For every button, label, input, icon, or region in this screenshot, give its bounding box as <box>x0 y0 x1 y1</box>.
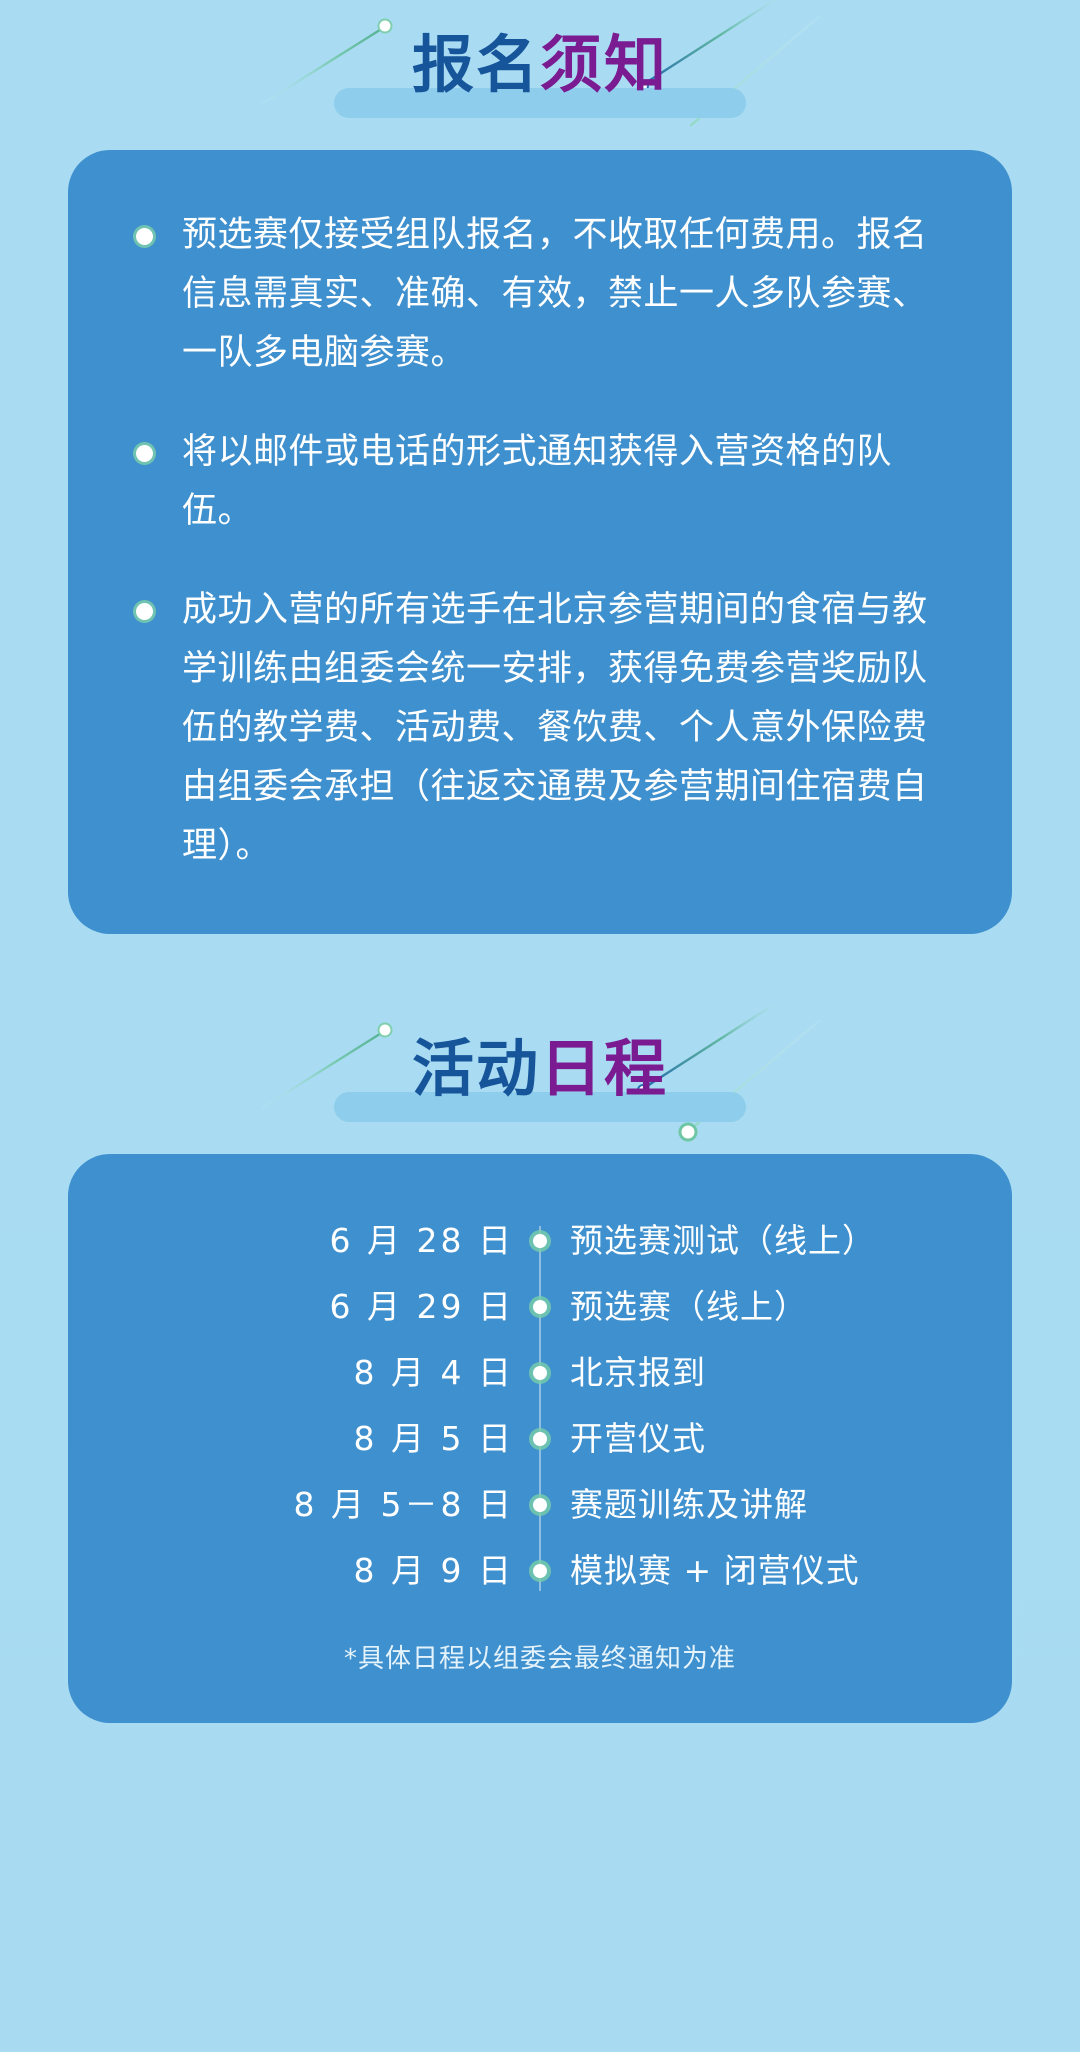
heading-blue-part: 活动 <box>412 1032 540 1105</box>
section-gap <box>0 934 1080 1004</box>
section-heading-schedule: 活动日程 <box>0 1004 1080 1154</box>
poster-page: 报名须知 预选赛仅接受组队报名，不收取任何费用。报名信息需真实、准确、有效，禁止… <box>0 0 1080 2052</box>
schedule-date: 8 月 9 日 <box>108 1551 540 1591</box>
timeline-node <box>529 1362 551 1384</box>
notice-card: 预选赛仅接受组队报名，不收取任何费用。报名信息需真实、准确、有效，禁止一人多队参… <box>68 150 1012 934</box>
heading-blue-part: 报名 <box>412 28 540 101</box>
schedule-timeline: 6 月 28 日 预选赛测试（线上） 6 月 29 日 预选赛（线上） 8 月 … <box>108 1208 972 1675</box>
schedule-date: 6 月 29 日 <box>108 1287 540 1327</box>
timeline-node <box>529 1428 551 1450</box>
timeline-dot-icon <box>533 1498 547 1512</box>
table-row: 8 月 5－8 日 赛题训练及讲解 <box>108 1472 972 1538</box>
table-row: 6 月 29 日 预选赛（线上） <box>108 1274 972 1340</box>
notice-item-text: 预选赛仅接受组队报名，不收取任何费用。报名信息需真实、准确、有效，禁止一人多队参… <box>182 215 928 373</box>
schedule-label: 赛题训练及讲解 <box>540 1485 972 1525</box>
list-item: 预选赛仅接受组队报名，不收取任何费用。报名信息需真实、准确、有效，禁止一人多队参… <box>130 206 950 383</box>
schedule-label: 预选赛测试（线上） <box>540 1221 972 1261</box>
page-title-schedule: 活动日程 <box>412 1032 668 1106</box>
schedule-date: 8 月 5－8 日 <box>108 1485 540 1525</box>
schedule-date: 8 月 4 日 <box>108 1353 540 1393</box>
notice-item-text: 成功入营的所有选手在北京参营期间的食宿与教学训练由组委会统一安排，获得免费参营奖… <box>182 590 928 866</box>
notice-item-text: 将以邮件或电话的形式通知获得入营资格的队伍。 <box>182 432 892 531</box>
schedule-date: 8 月 5 日 <box>108 1419 540 1459</box>
list-item: 成功入营的所有选手在北京参营期间的食宿与教学训练由组委会统一安排，获得免费参营奖… <box>130 581 950 876</box>
schedule-label: 预选赛（线上） <box>540 1287 972 1327</box>
list-item: 将以邮件或电话的形式通知获得入营资格的队伍。 <box>130 423 950 541</box>
timeline-dot-icon <box>533 1432 547 1446</box>
schedule-label: 北京报到 <box>540 1353 972 1393</box>
timeline-dot-icon <box>533 1234 547 1248</box>
bullet-dot-icon <box>136 603 153 620</box>
timeline-node <box>529 1494 551 1516</box>
schedule-card: 6 月 28 日 预选赛测试（线上） 6 月 29 日 预选赛（线上） 8 月 … <box>68 1154 1012 1723</box>
timeline-dot-icon <box>533 1366 547 1380</box>
schedule-label: 模拟赛 + 闭营仪式 <box>540 1551 972 1591</box>
heading-purple-part: 须知 <box>540 28 668 101</box>
timeline-node <box>529 1230 551 1252</box>
section-heading-notice: 报名须知 <box>0 0 1080 150</box>
timeline-node <box>529 1560 551 1582</box>
table-row: 8 月 5 日 开营仪式 <box>108 1406 972 1472</box>
table-row: 8 月 9 日 模拟赛 + 闭营仪式 <box>108 1538 972 1604</box>
table-row: 8 月 4 日 北京报到 <box>108 1340 972 1406</box>
timeline-dot-icon <box>533 1300 547 1314</box>
timeline-node <box>529 1296 551 1318</box>
bullet-dot-icon <box>136 445 153 462</box>
heading-purple-part: 日程 <box>540 1032 668 1105</box>
schedule-date: 6 月 28 日 <box>108 1221 540 1261</box>
table-row: 6 月 28 日 预选赛测试（线上） <box>108 1208 972 1274</box>
timeline-dot-icon <box>533 1564 547 1578</box>
schedule-label: 开营仪式 <box>540 1419 972 1459</box>
page-title-notice: 报名须知 <box>412 28 668 102</box>
notice-list: 预选赛仅接受组队报名，不收取任何费用。报名信息需真实、准确、有效，禁止一人多队参… <box>130 206 950 876</box>
schedule-footnote: *具体日程以组委会最终通知为准 <box>108 1638 972 1675</box>
bullet-dot-icon <box>136 228 153 245</box>
